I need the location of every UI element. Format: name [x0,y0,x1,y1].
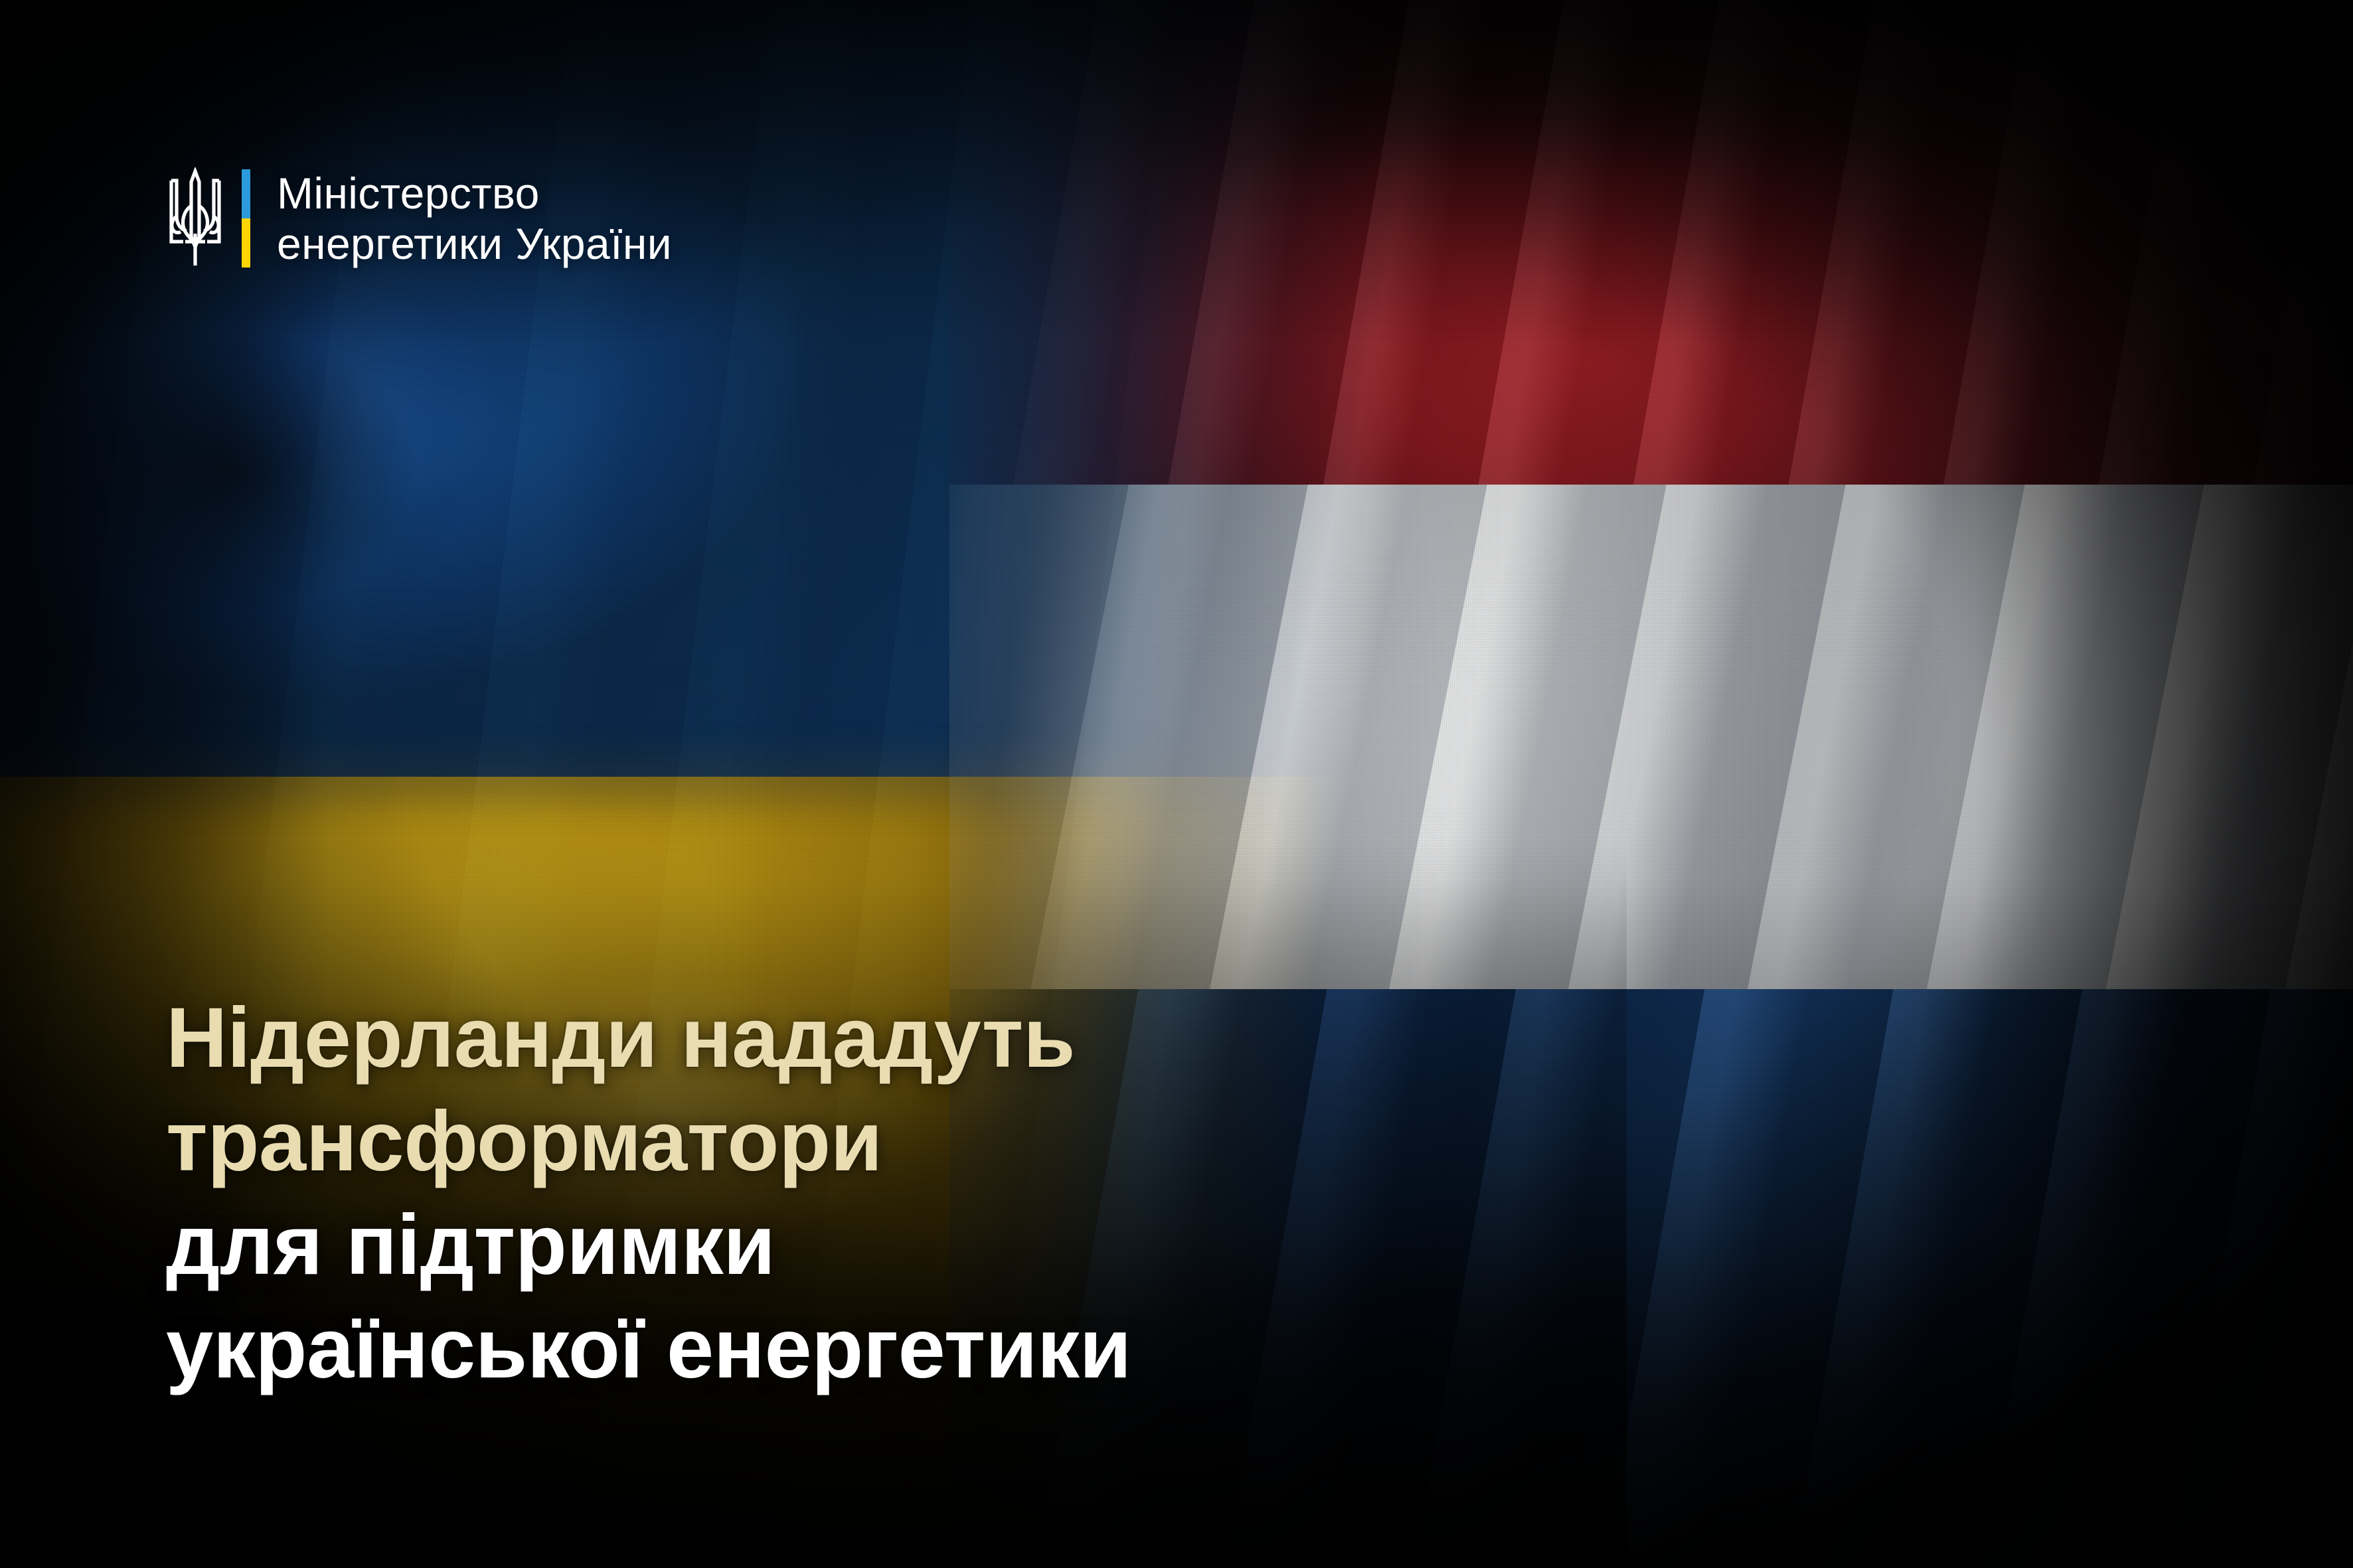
headline-line-1: Нідерланди нададуть [166,986,1131,1090]
netherlands-flag [949,0,2353,1568]
ukraine-trident-icon [163,167,227,270]
headline: Нідерланди нададуть трансформатори для п… [166,986,1131,1401]
headline-line-4: української енергетики [166,1297,1131,1401]
social-card: Міністерство енергетики України Нідерлан… [0,0,2353,1568]
logo-divider-blue-half [242,169,250,218]
headline-line-2: трансформатори [166,1090,1131,1194]
ministry-name: Міністерство енергетики України [277,168,672,269]
headline-line-3: для підтримки [166,1194,1131,1297]
ministry-name-line-1: Міністерство [277,168,672,218]
logo-divider-rule [242,169,250,268]
ministry-logo-lockup: Міністерство енергетики України [163,167,672,270]
logo-divider-yellow-half [242,218,250,268]
netherlands-flag-folds [949,0,2353,1568]
ministry-name-line-2: енергетики України [277,218,672,269]
